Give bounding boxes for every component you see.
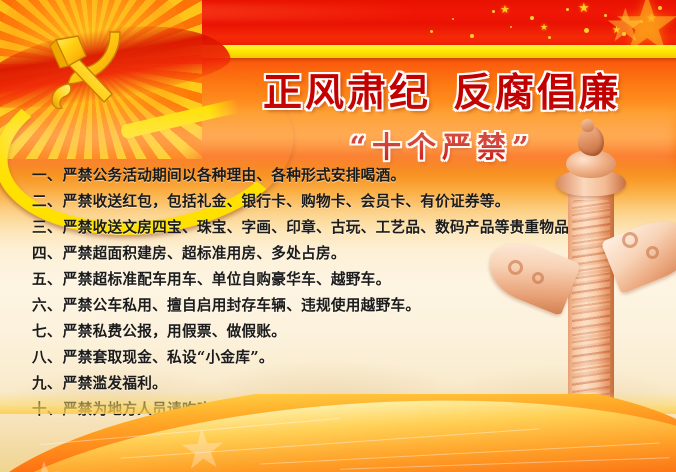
list-item-text: 严禁套取现金、私设“小金库”。 (63, 345, 274, 371)
huabiao-column (522, 128, 672, 428)
list-item-number: 六、 (32, 293, 62, 319)
confetti-dot (510, 26, 512, 28)
list-item-number: 一、 (32, 163, 62, 189)
bottom-wave-band: ★ ★ ★ ★ (0, 394, 676, 472)
star-icon: ★ (500, 4, 510, 15)
poster-canvas: ★ ★ ★ ★ ★ ★ ★ (0, 0, 676, 472)
list-item-text: 严禁公务活动期间以各种理由、各种形式安排喝酒。 (63, 163, 406, 189)
cloud-swirl (532, 272, 544, 284)
cloud-swirl (508, 260, 523, 275)
confetti-dot (566, 8, 569, 11)
list-item-text: 严禁超面积建房、超标准用房、多处占房。 (63, 241, 346, 267)
list-item-text: 严禁公车私用、擅自启用封存车辆、违规使用越野车。 (63, 293, 420, 319)
list-item-number: 二、 (32, 189, 62, 215)
star-icon: ★ (540, 24, 548, 33)
list-item-text: 严禁收送文房四宝、珠宝、字画、印章、古玩、工艺品、数码产品等贵重物品。 (63, 215, 584, 241)
star-icon: ★ (25, 455, 65, 472)
confetti-dot (452, 18, 454, 20)
column-mythical-beast (578, 126, 604, 156)
confetti-dot (548, 36, 551, 39)
confetti-dot (470, 34, 474, 38)
star-icon: ★ (578, 2, 590, 15)
confetti-dot (430, 30, 433, 33)
list-item-text: 严禁收送红包，包括礼金、银行卡、购物卡、会员卡、有价证券等。 (63, 189, 510, 215)
list-item-text: 严禁超标准配车用车、单位自购豪华车、越野车。 (63, 267, 391, 293)
list-item-number: 七、 (32, 319, 62, 345)
list-item-number: 五、 (32, 267, 62, 293)
decorative-star-medium: ★ (605, 2, 646, 48)
confetti-dot (492, 10, 495, 13)
confetti-dot (584, 28, 589, 33)
cloud-swirl (622, 232, 638, 248)
confetti-dot (530, 16, 534, 20)
list-item-text: 严禁私费公报，用假票、做假账。 (63, 319, 286, 345)
cloud-swirl (646, 246, 659, 259)
list-item-number: 四、 (32, 241, 62, 267)
list-item-number: 八、 (32, 345, 62, 371)
list-item-number: 三、 (32, 215, 62, 241)
